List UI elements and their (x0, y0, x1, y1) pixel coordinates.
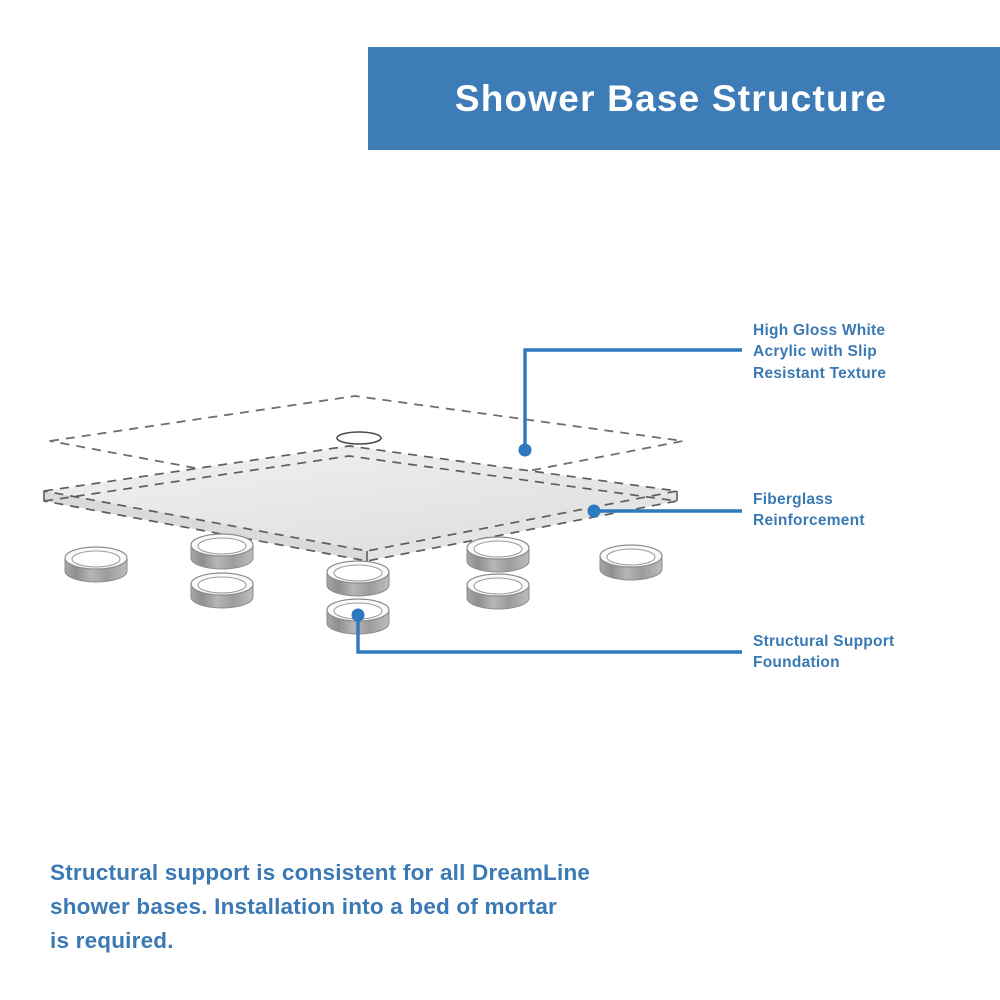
support-ring (191, 573, 253, 608)
callout-line: Acrylic with Slip (753, 341, 968, 362)
callout-label-acrylic: High Gloss White Acrylic with Slip Resis… (753, 320, 968, 384)
acrylic-top-layer (50, 396, 683, 501)
support-ring (327, 561, 389, 596)
support-ring (467, 537, 529, 572)
support-ring (65, 547, 127, 582)
callout-label-support: Structural Support Foundation (753, 631, 968, 674)
footer-line: Structural support is consistent for all… (50, 856, 670, 890)
fiberglass-slab (44, 446, 677, 561)
support-ring (467, 574, 529, 609)
callout-line: Fiberglass (753, 489, 968, 510)
connector-acrylic (525, 350, 742, 450)
support-rings-group (65, 534, 662, 634)
support-ring (600, 545, 662, 580)
connector-dot-fiberglass (588, 505, 601, 518)
header-banner: Shower Base Structure (368, 47, 1000, 150)
footer-line: is required. (50, 924, 670, 958)
page-title: Shower Base Structure (455, 80, 913, 117)
connector-dot-acrylic (519, 444, 532, 457)
support-ring (191, 534, 253, 569)
infographic-page: Shower Base Structure (0, 0, 1000, 1000)
callout-connectors (352, 350, 743, 652)
footer-line: shower bases. Installation into a bed of… (50, 890, 670, 924)
callout-line: Structural Support (753, 631, 968, 652)
callout-line: Foundation (753, 652, 968, 673)
drain-hole-icon (337, 432, 381, 444)
connector-dot-support (352, 609, 365, 622)
callout-line: Resistant Texture (753, 363, 968, 384)
connector-support (358, 615, 742, 652)
support-ring (327, 599, 389, 634)
footer-note: Structural support is consistent for all… (50, 856, 670, 959)
callout-line: High Gloss White (753, 320, 968, 341)
callout-label-fiberglass: Fiberglass Reinforcement (753, 489, 968, 532)
callout-line: Reinforcement (753, 510, 968, 531)
